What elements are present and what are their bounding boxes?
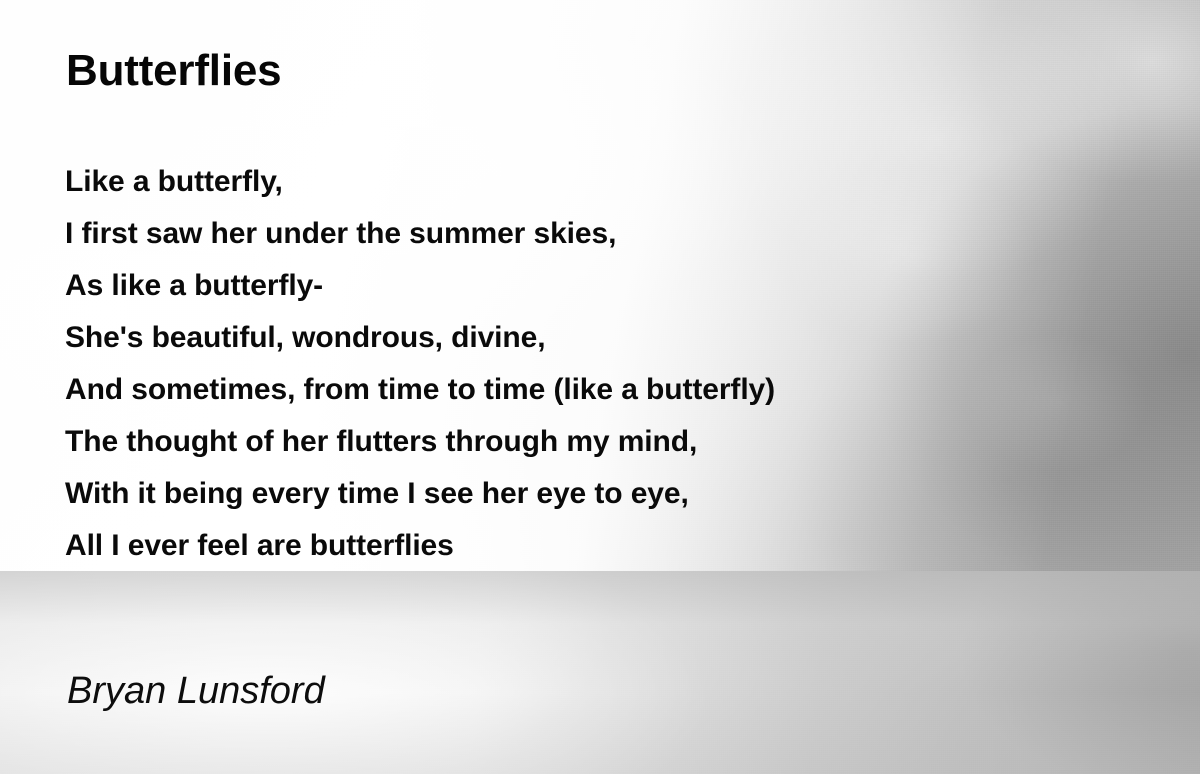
poem-line: The thought of her flutters through my m…: [65, 416, 775, 468]
poem-line: With it being every time I see her eye t…: [65, 468, 775, 520]
poem-line: All I ever feel are butterflies: [65, 520, 775, 572]
poem-author: Bryan Lunsford: [67, 672, 325, 710]
poem-title: Butterflies: [66, 49, 281, 93]
poem-line: And sometimes, from time to time (like a…: [65, 364, 775, 416]
poem-image-card: Butterflies Like a butterfly, I first sa…: [0, 0, 1200, 774]
poem-body: Like a butterfly, I first saw her under …: [65, 156, 775, 572]
poem-line: Like a butterfly,: [65, 156, 775, 208]
poem-line: I first saw her under the summer skies,: [65, 208, 775, 260]
poem-line: She's beautiful, wondrous, divine,: [65, 312, 775, 364]
poem-line: As like a butterfly-: [65, 260, 775, 312]
